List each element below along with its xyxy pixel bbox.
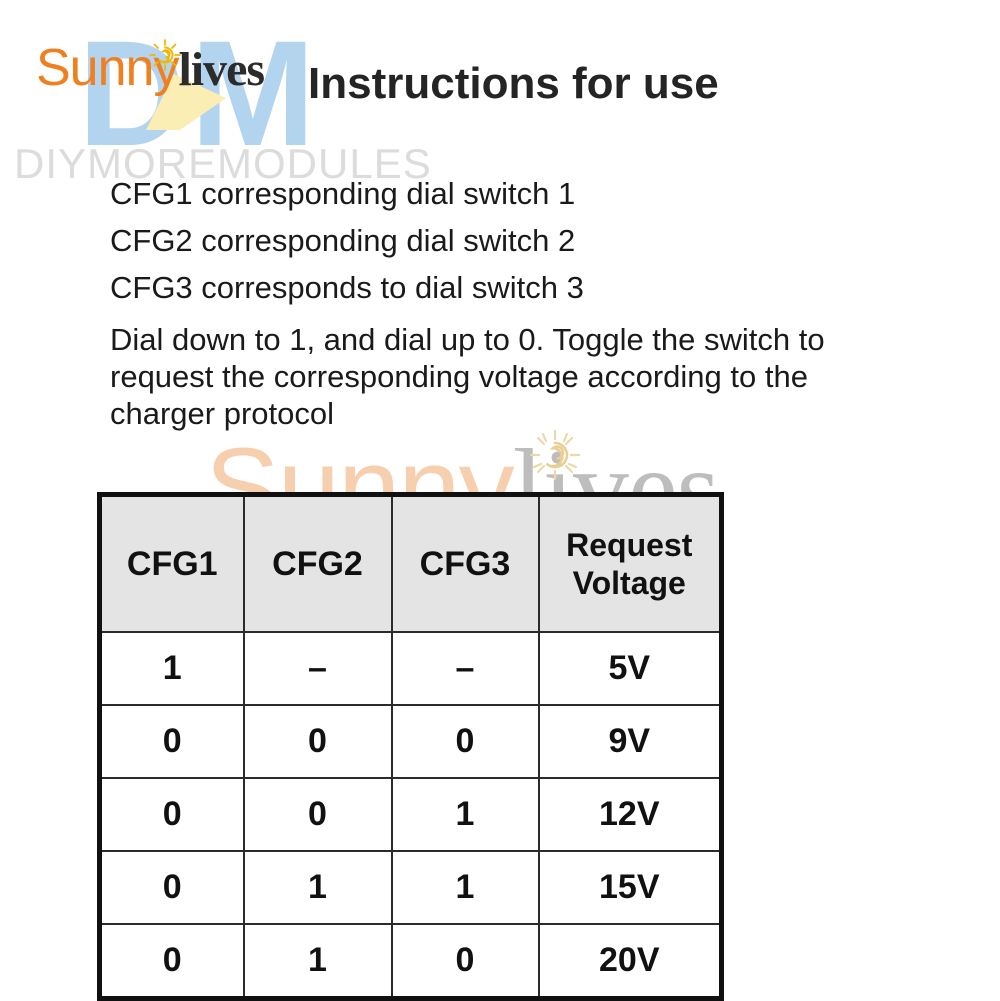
table-header-cfg1: CFG1	[100, 495, 244, 633]
logo-text-lives: lives	[178, 43, 264, 96]
cell-cfg1: 0	[100, 924, 244, 999]
table-row: 1 – – 5V	[100, 632, 722, 705]
cell-cfg3: –	[392, 632, 539, 705]
table-header-row: CFG1 CFG2 CFG3 Request Voltage	[100, 495, 722, 633]
instruction-paragraph: Dial down to 1, and dial up to 0. Toggle…	[110, 321, 860, 432]
cell-cfg3: 1	[392, 778, 539, 851]
sun-icon	[527, 427, 583, 483]
table-row: 0 0 1 12V	[100, 778, 722, 851]
cell-cfg2: 0	[244, 778, 392, 851]
cell-cfg2: –	[244, 632, 392, 705]
cell-cfg3: 0	[392, 924, 539, 999]
voltage-config-table: CFG1 CFG2 CFG3 Request Voltage 1 – – 5V …	[97, 492, 724, 1001]
cell-voltage: 9V	[539, 705, 722, 778]
table-header-cfg2: CFG2	[244, 495, 392, 633]
table-row: 0 0 0 9V	[100, 705, 722, 778]
cell-cfg1: 0	[100, 705, 244, 778]
instruction-line-2: CFG2 corresponding dial switch 2	[110, 217, 880, 264]
sun-icon	[148, 38, 182, 72]
table-header-request-voltage-line2: Voltage	[541, 564, 719, 602]
instructions-block: CFG1 corresponding dial switch 1 CFG2 co…	[110, 170, 880, 432]
table-header-request-voltage-line1: Request	[541, 526, 719, 564]
brand-logo: Sunnylives	[36, 42, 264, 94]
cell-cfg2: 0	[244, 705, 392, 778]
cell-voltage: 15V	[539, 851, 722, 924]
cell-cfg1: 0	[100, 851, 244, 924]
cell-cfg1: 0	[100, 778, 244, 851]
table-row: 0 1 0 20V	[100, 924, 722, 999]
instruction-line-1: CFG1 corresponding dial switch 1	[110, 170, 880, 217]
table-row: 0 1 1 15V	[100, 851, 722, 924]
cell-cfg2: 1	[244, 924, 392, 999]
table-header-request-voltage: Request Voltage	[539, 495, 722, 633]
table-header-cfg3: CFG3	[392, 495, 539, 633]
instruction-line-3: CFG3 corresponds to dial switch 3	[110, 264, 880, 311]
cell-cfg3: 0	[392, 705, 539, 778]
cell-voltage: 12V	[539, 778, 722, 851]
cell-voltage: 20V	[539, 924, 722, 999]
cell-cfg2: 1	[244, 851, 392, 924]
cell-cfg1: 1	[100, 632, 244, 705]
cell-cfg3: 1	[392, 851, 539, 924]
cell-voltage: 5V	[539, 632, 722, 705]
page-title: Instructions for use	[308, 62, 719, 106]
